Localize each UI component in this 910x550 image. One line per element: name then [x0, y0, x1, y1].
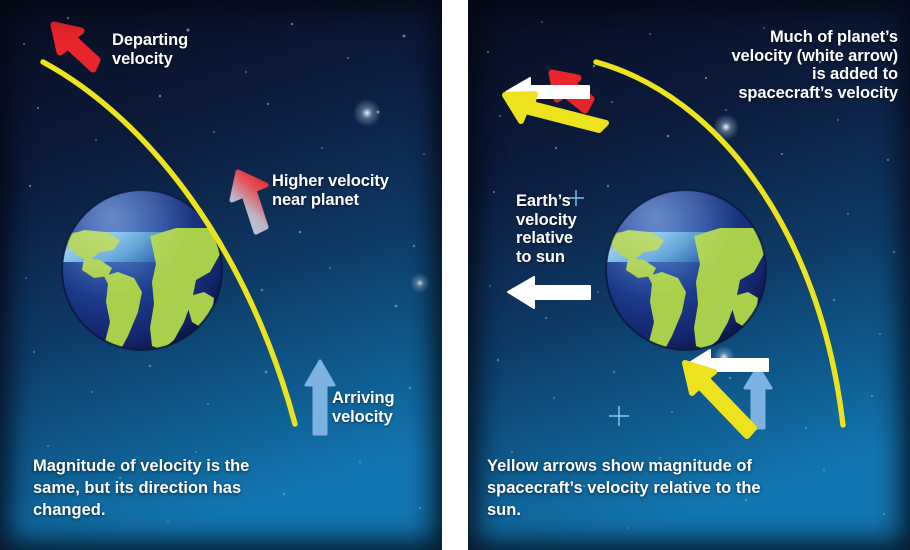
panel-velocity-relative-to-planet: Departing velocity Higher velocity near … [0, 0, 442, 550]
label-higher-velocity-near-planet: Higher velocity near planet [272, 172, 389, 209]
label-departing-velocity: Departing velocity [112, 31, 188, 68]
gravity-assist-figure: Departing velocity Higher velocity near … [0, 0, 910, 550]
label-arriving-velocity: Arriving velocity [332, 389, 394, 426]
label-earths-velocity-relative-to-sun: Earth’s velocity relative to sun [516, 192, 577, 267]
bright-star-glow [410, 273, 430, 293]
caption-left-panel: Magnitude of velocity is the same, but i… [33, 456, 293, 522]
label-much-of-planets-velocity: Much of planet’s velocity (white arrow) … [731, 28, 898, 103]
caption-right-panel: Yellow arrows show magnitude of spacecra… [487, 456, 777, 522]
bright-star-glow [353, 99, 381, 127]
panel-divider [442, 0, 468, 550]
